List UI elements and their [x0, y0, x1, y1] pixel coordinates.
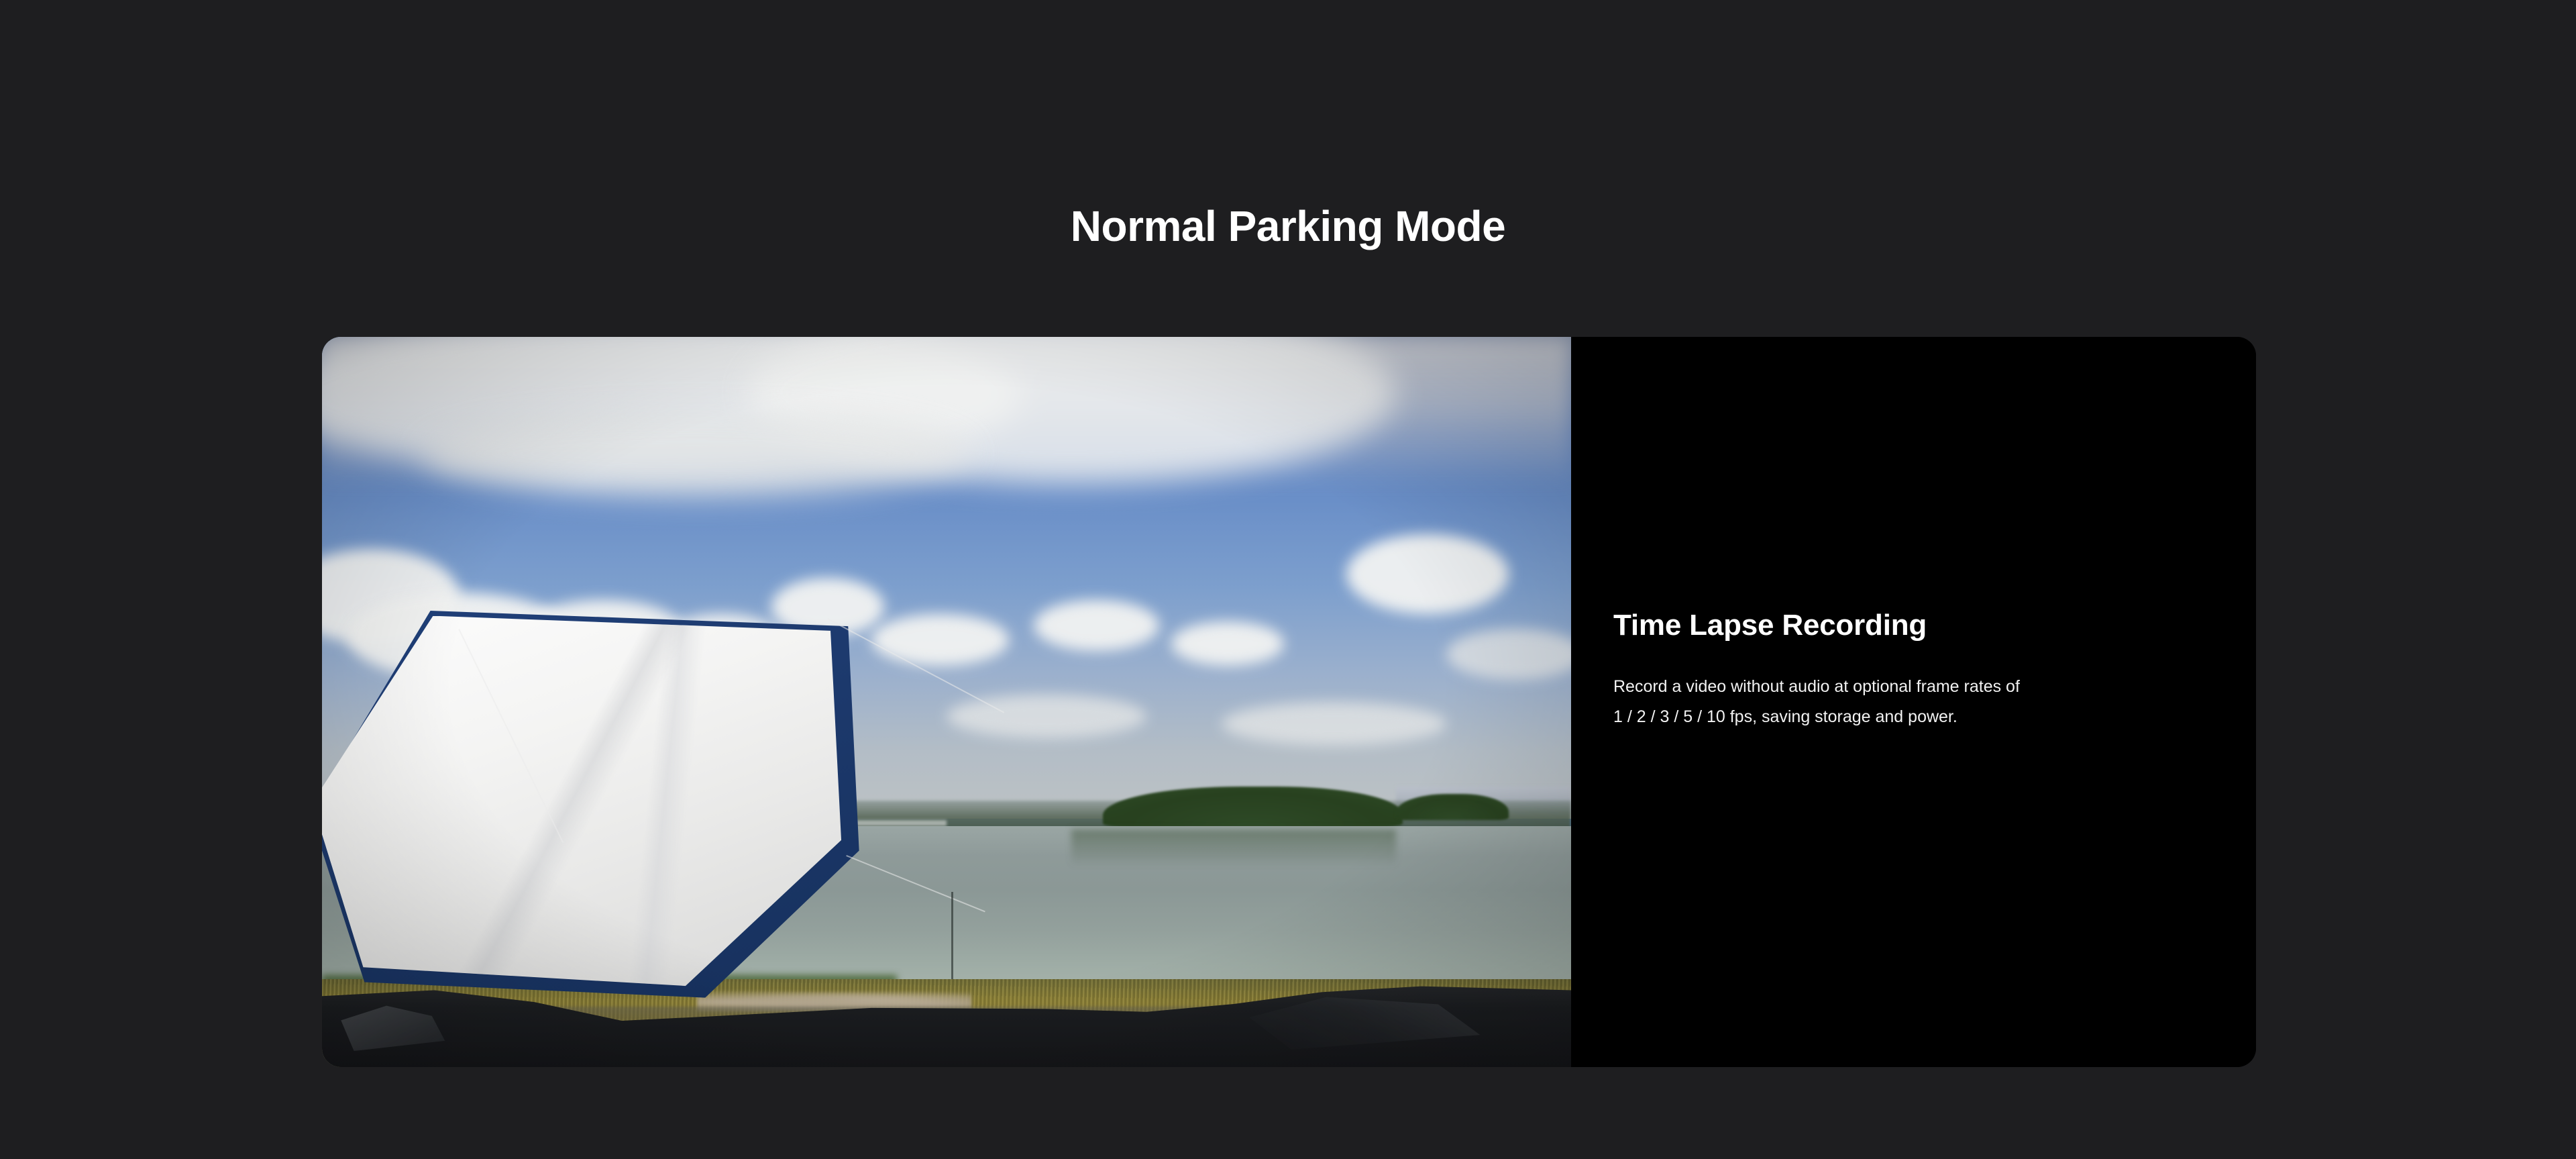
cloud-shape [1222, 702, 1446, 746]
feature-description-line-1: Record a video without audio at optional… [1613, 677, 2020, 696]
tent-pole [951, 892, 953, 980]
cloud-shape [422, 410, 971, 498]
feature-image [322, 337, 1571, 1067]
feature-text-block: Time Lapse Recording Record a video with… [1613, 608, 2204, 733]
water-reflection [1071, 829, 1396, 866]
cloud-shape [947, 695, 1146, 738]
cloud-shape [871, 614, 1009, 665]
cloud-shape [1346, 534, 1509, 615]
feature-text-pane: Time Lapse Recording Record a video with… [1571, 337, 2256, 1067]
tree-island-secondary [1396, 794, 1509, 820]
feature-description: Record a video without audio at optional… [1613, 672, 2143, 733]
page-root: Normal Parking Mode [0, 0, 2576, 1159]
feature-heading: Time Lapse Recording [1613, 608, 2204, 644]
feature-description-line-2: 1 / 2 / 3 / 5 / 10 fps, saving storage a… [1613, 707, 1957, 726]
page-title: Normal Parking Mode [0, 202, 2576, 252]
cloud-shape [1034, 600, 1159, 651]
cloud-shape [1171, 621, 1284, 665]
feature-card: Time Lapse Recording Record a video with… [322, 337, 2256, 1067]
